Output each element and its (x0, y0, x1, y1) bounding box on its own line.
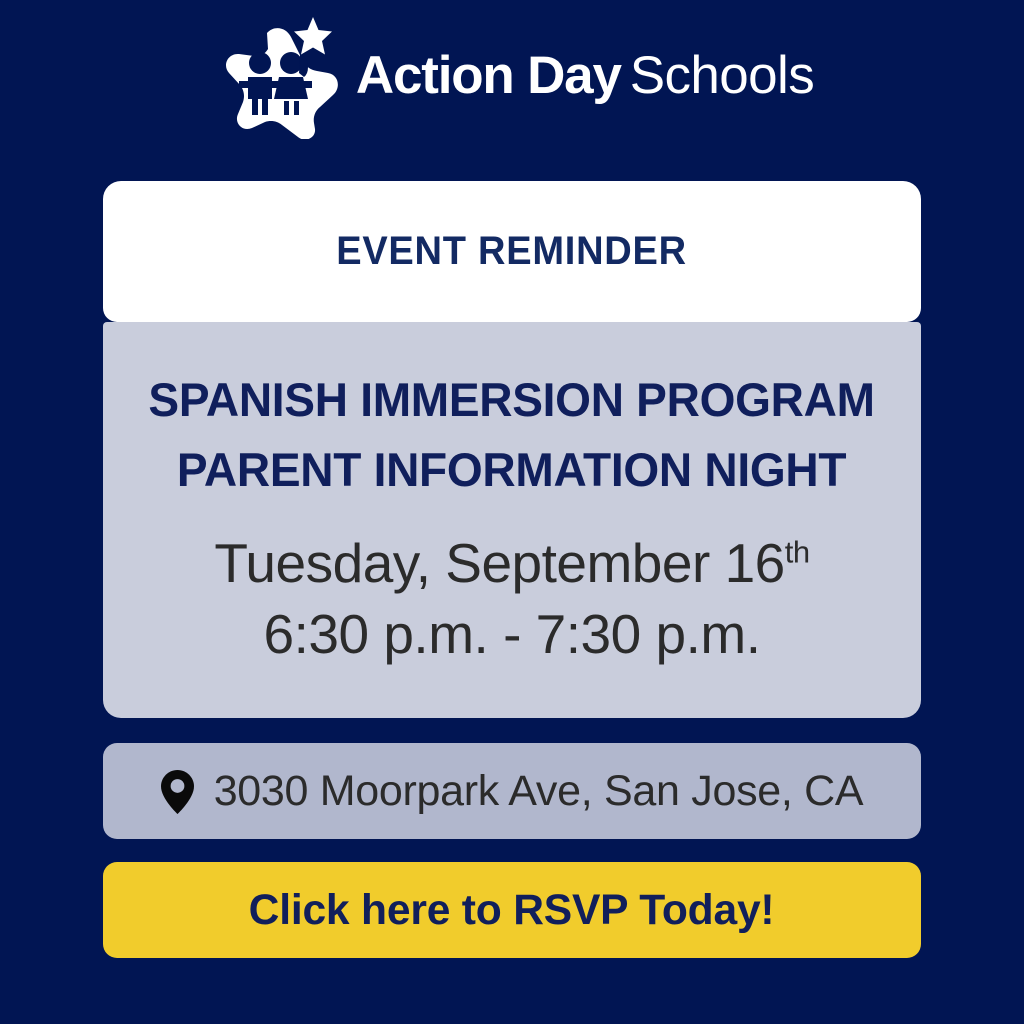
event-title-line-2: PARENT INFORMATION NIGHT (149, 435, 875, 505)
brand-wordmark: Action Day Schools (356, 45, 814, 106)
event-title: SPANISH IMMERSION PROGRAM PARENT INFORMA… (149, 365, 875, 504)
event-date-text: Tuesday, September 16 (214, 532, 784, 594)
event-address-text: 3030 Moorpark Ave, San Jose, CA (214, 767, 864, 816)
brand-name-bold: Action Day (356, 45, 621, 106)
map-pin-icon (161, 770, 194, 814)
event-reminder-card: EVENT REMINDER (103, 181, 921, 322)
rsvp-button[interactable]: Click here to RSVP Today! (103, 862, 921, 958)
brand-name-light: Schools (630, 45, 814, 106)
brand-header: Action Day Schools (0, 10, 1024, 140)
event-reminder-label: EVENT REMINDER (337, 229, 688, 274)
star-children-logo-icon (210, 11, 338, 139)
event-location-bar: 3030 Moorpark Ave, San Jose, CA (103, 743, 921, 839)
event-time-line: 6:30 p.m. - 7:30 p.m. (214, 599, 809, 669)
rsvp-button-label: Click here to RSVP Today! (249, 886, 775, 935)
event-reminder-flyer: Action Day Schools EVENT REMINDER SPANIS… (0, 0, 1024, 1024)
event-date-ordinal: th (785, 535, 810, 570)
event-details-panel: SPANISH IMMERSION PROGRAM PARENT INFORMA… (103, 322, 921, 718)
event-datetime: Tuesday, September 16th 6:30 p.m. - 7:30… (214, 528, 809, 669)
event-date-line: Tuesday, September 16th (214, 528, 809, 598)
event-title-line-1: SPANISH IMMERSION PROGRAM (149, 365, 875, 435)
